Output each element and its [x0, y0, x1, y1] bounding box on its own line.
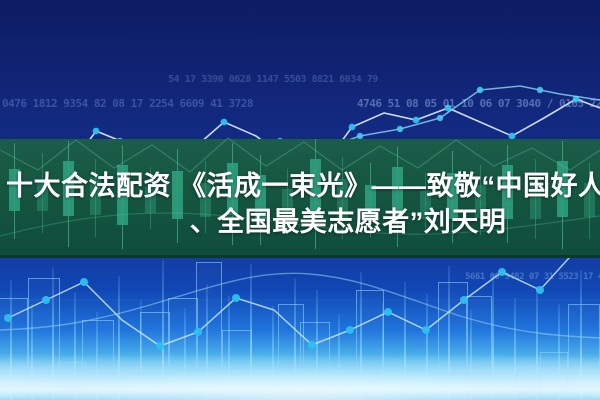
decorative-digits-upper: 54 17 3390 0628 1147 5503 8821 6034 79: [168, 74, 378, 85]
green-zigzag-line: [0, 138, 600, 172]
article-banner-image: 0476 1812 9354 82 08 17 2254 6609 41 372…: [0, 0, 600, 400]
decorative-digits-lower: 5661 00 9482 07 31 5523 17 4408 60 29 11…: [465, 272, 600, 282]
title-line-1: 十大合法配资 《活成一束光》——致敬“中国好人: [0, 168, 600, 204]
title-line-2: 、全国最美志愿者”刘天明: [0, 204, 600, 240]
decorative-digits-right: 4746 51 08 05 01 10 06 07 3040 / 0165 22…: [357, 97, 600, 110]
decorative-digits-left: 0476 1812 9354 82 08 17 2254 6609 41 372…: [2, 97, 253, 110]
banner-title: 十大合法配资 《活成一束光》——致敬“中国好人 、全国最美志愿者”刘天明: [0, 168, 600, 240]
